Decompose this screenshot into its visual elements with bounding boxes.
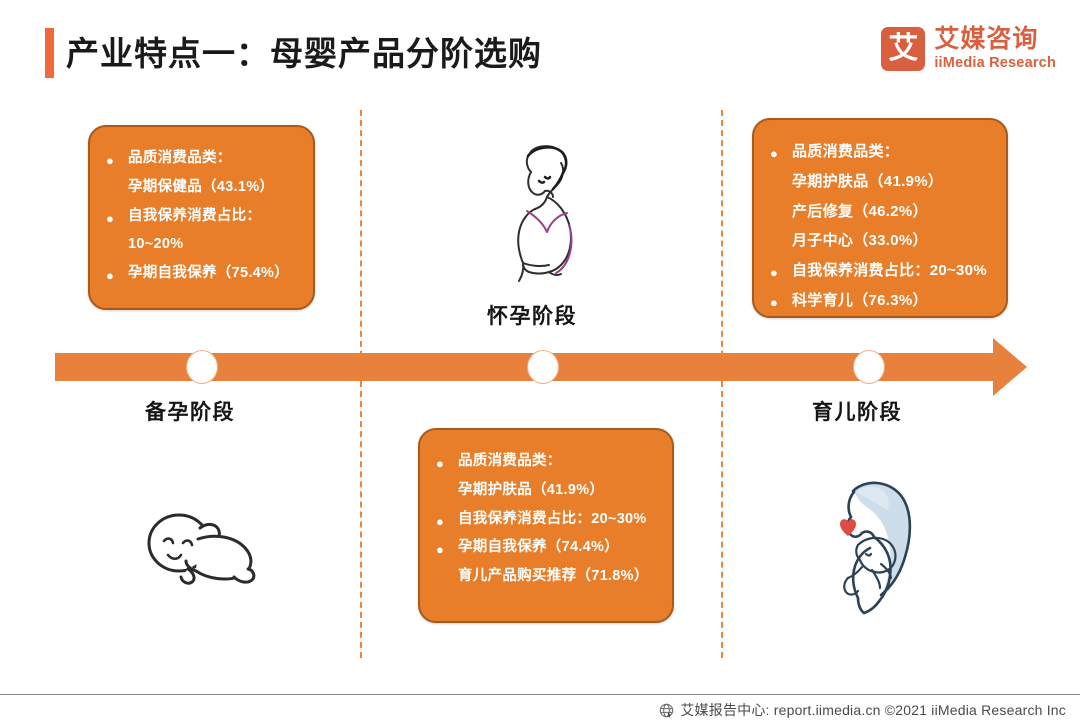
footer: 艾媒报告中心: report.iimedia.cn ©2021 iiMedia …	[659, 700, 1066, 720]
bullet-icon: ●	[436, 448, 458, 470]
card-line: ● 科学育儿（76.3%）	[770, 287, 990, 315]
card-line-text: 孕期护肤品（41.9%）	[458, 477, 604, 504]
card-line-text: 孕期保健品（43.1%）	[128, 174, 274, 201]
infographic-page: 产业特点一：母婴产品分阶选购 艾 艾媒咨询 iiMedia Research 备…	[0, 0, 1080, 720]
stage-divider-1	[360, 110, 362, 658]
page-title: 产业特点一：母婴产品分阶选购	[66, 27, 542, 75]
card-line: ● 产后修复（46.2%）	[770, 198, 990, 226]
bullet-icon: ●	[106, 203, 128, 225]
pregnant-woman-illustration	[483, 133, 603, 293]
card-line: ● 孕期护肤品（41.9%）	[436, 477, 656, 504]
card-line: ● 10~20%	[106, 231, 297, 258]
card-line-text: 产后修复（46.2%）	[792, 198, 928, 226]
bullet-icon: ●	[770, 138, 792, 160]
stage-label-pregnancy: 怀孕阶段	[487, 300, 577, 330]
card-line-text: 孕期护肤品（41.9%）	[792, 168, 943, 196]
mother-holding-baby-illustration	[818, 472, 938, 627]
card-line: ● 孕期护肤品（41.9%）	[770, 168, 990, 196]
globe-icon	[659, 703, 674, 718]
card-line-text: 孕期自我保养（75.4%）	[128, 260, 289, 287]
timeline-node-2	[527, 350, 559, 384]
stage-label-preconception: 备孕阶段	[145, 396, 235, 426]
card-line-text: 育儿产品购买推荐（71.8%）	[458, 563, 649, 590]
bullet-icon: ●	[436, 534, 458, 556]
card-line: ● 孕期保健品（43.1%）	[106, 174, 297, 201]
card-line: ● 自我保养消费占比：20~30%	[436, 506, 656, 533]
card-line: ● 自我保养消费占比：20~30%	[770, 257, 990, 285]
logo-name-cn: 艾媒咨询	[934, 26, 1056, 54]
card-line-text: 自我保养消费占比：20~30%	[458, 506, 647, 533]
card-line: ● 品质消费品类：	[106, 145, 297, 172]
timeline-node-1	[186, 350, 218, 384]
brand-logo: 艾 艾媒咨询 iiMedia Research	[881, 26, 1056, 72]
card-line: ● 育儿产品购买推荐（71.8%）	[436, 563, 656, 590]
logo-mark-icon: 艾	[881, 27, 925, 71]
info-card-pregnancy: ● 品质消费品类： ● 孕期护肤品（41.9%） ● 自我保养消费占比：20~3…	[418, 428, 674, 623]
card-line-text: 科学育儿（76.3%）	[792, 287, 928, 315]
timeline-arrow-icon	[993, 338, 1027, 396]
card-line-text: 品质消费品类：	[128, 145, 232, 172]
info-card-parenting: ● 品质消费品类： ● 孕期护肤品（41.9%） ● 产后修复（46.2%） ●…	[752, 118, 1008, 318]
bullet-icon: ●	[770, 287, 792, 309]
card-line: ● 月子中心（33.0%）	[770, 227, 990, 255]
card-line-text: 品质消费品类：	[792, 138, 899, 166]
bullet-icon: ●	[436, 506, 458, 528]
card-line: ● 品质消费品类：	[770, 138, 990, 166]
card-line: ● 孕期自我保养（74.4%）	[436, 534, 656, 561]
card-line-text: 10~20%	[128, 231, 183, 258]
timeline-node-3	[853, 350, 885, 384]
title-accent-bar	[45, 28, 54, 78]
card-line-text: 孕期自我保养（74.4%）	[458, 534, 619, 561]
bullet-icon: ●	[106, 145, 128, 167]
footer-text: 艾媒报告中心: report.iimedia.cn ©2021 iiMedia …	[680, 700, 1066, 720]
card-line-text: 品质消费品类：	[458, 448, 562, 475]
card-line-text: 月子中心（33.0%）	[792, 227, 928, 255]
logo-name-en: iiMedia Research	[934, 55, 1056, 72]
info-card-preconception: ● 品质消费品类： ● 孕期保健品（43.1%） ● 自我保养消费占比： ● 1…	[88, 125, 315, 310]
card-line: ● 自我保养消费占比：	[106, 203, 297, 230]
stage-divider-2	[721, 110, 723, 658]
footer-divider	[0, 694, 1080, 695]
card-line-text: 自我保养消费占比：	[128, 203, 261, 230]
logo-text: 艾媒咨询 iiMedia Research	[934, 26, 1056, 72]
bullet-icon: ●	[106, 260, 128, 282]
card-line-text: 自我保养消费占比：20~30%	[792, 257, 987, 285]
card-line: ● 品质消费品类：	[436, 448, 656, 475]
bullet-icon: ●	[770, 257, 792, 279]
sleeping-baby-illustration	[138, 503, 268, 598]
card-line: ● 孕期自我保养（75.4%）	[106, 260, 297, 287]
stage-label-parenting: 育儿阶段	[812, 396, 902, 426]
